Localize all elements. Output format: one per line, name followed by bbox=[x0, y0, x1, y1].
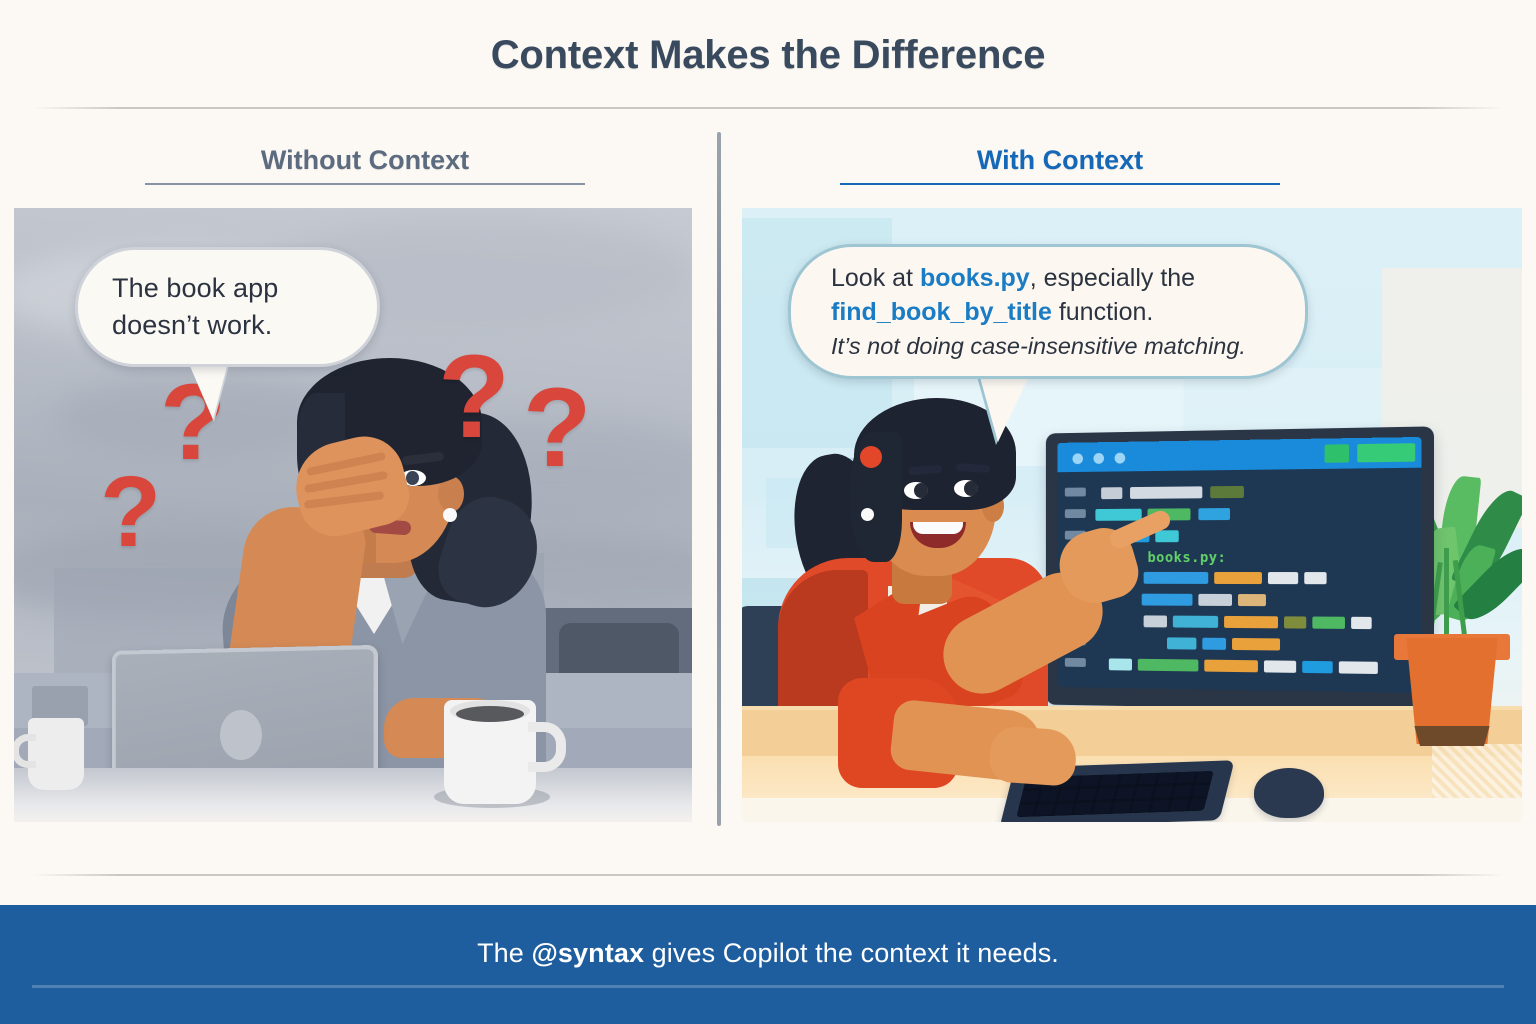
code-token bbox=[1224, 616, 1278, 628]
code-token bbox=[1204, 660, 1258, 673]
person-pupil bbox=[406, 471, 419, 485]
plant-stem bbox=[1444, 548, 1449, 646]
editor-line-number bbox=[1065, 488, 1086, 497]
line1-text-after: , especially the bbox=[1030, 264, 1195, 292]
code-ref-books-py: books.py bbox=[920, 264, 1030, 292]
footer-accent-line bbox=[32, 985, 1504, 988]
code-token bbox=[1198, 594, 1232, 606]
line2-text-after: function. bbox=[1052, 298, 1153, 326]
code-token bbox=[1202, 638, 1226, 650]
code-token bbox=[1138, 659, 1199, 672]
code-ref-find-book-by-title: find_book_by_title bbox=[831, 298, 1052, 326]
hair-tie bbox=[860, 446, 882, 468]
code-token bbox=[1144, 572, 1209, 584]
code-token bbox=[1351, 617, 1372, 629]
laptop-logo bbox=[220, 710, 262, 760]
speech-bubble-tail bbox=[978, 370, 1032, 442]
code-token bbox=[1167, 637, 1196, 649]
editor-line-number bbox=[1065, 658, 1086, 667]
plant-pot-base bbox=[1412, 726, 1492, 746]
person-earring bbox=[443, 508, 457, 522]
code-token bbox=[1304, 572, 1326, 584]
question-mark-icon: ? bbox=[523, 372, 591, 484]
speech-bubble-body: Look at books.py, especially the find_bo… bbox=[788, 244, 1308, 379]
code-token bbox=[1198, 508, 1230, 520]
speech-bubble-line-1: Look at books.py, especially the bbox=[831, 261, 1265, 296]
person-pupil bbox=[914, 483, 928, 498]
code-token bbox=[1284, 616, 1306, 628]
footer-text-before: The bbox=[477, 938, 531, 968]
code-token bbox=[1095, 509, 1141, 521]
footer-highlight-syntax: @syntax bbox=[532, 938, 645, 968]
code-token bbox=[1142, 594, 1193, 606]
code-token bbox=[1130, 486, 1202, 499]
code-token bbox=[1144, 615, 1167, 627]
footer-text-after: gives Copilot the context it needs. bbox=[644, 938, 1059, 968]
header-divider bbox=[32, 107, 1504, 109]
code-token bbox=[1173, 616, 1218, 628]
window-dot-icon[interactable] bbox=[1072, 453, 1082, 464]
question-mark-icon: ? bbox=[100, 462, 161, 562]
code-token bbox=[1339, 661, 1378, 674]
speech-bubble-line-2: doesn’t work. bbox=[112, 307, 343, 344]
coffee-mug-small bbox=[28, 718, 84, 790]
code-token bbox=[1214, 572, 1262, 584]
speech-bubble-without-context: The book app doesn’t work. bbox=[75, 247, 380, 367]
column-divider bbox=[717, 132, 721, 826]
page-title: Context Makes the Difference bbox=[0, 33, 1536, 78]
code-token bbox=[1101, 487, 1122, 499]
infographic-root: Context Makes the Difference Without Con… bbox=[0, 0, 1536, 1024]
footer-divider bbox=[32, 874, 1504, 876]
footer-banner: The @syntax gives Copilot the context it… bbox=[0, 905, 1536, 1024]
speech-bubble-body: The book app doesn’t work. bbox=[75, 247, 380, 367]
code-token bbox=[1210, 486, 1244, 498]
code-token bbox=[1312, 617, 1345, 629]
editor-filename-label: books.py: bbox=[1148, 550, 1227, 566]
question-mark-icon: ? bbox=[438, 338, 510, 456]
code-token bbox=[1238, 594, 1266, 606]
desk-edge bbox=[14, 768, 692, 822]
speech-bubble-line-2: find_book_by_title function. bbox=[831, 295, 1265, 330]
status-badge bbox=[1357, 443, 1415, 462]
speech-bubble-with-context: Look at books.py, especially the find_bo… bbox=[788, 244, 1308, 379]
code-token bbox=[1264, 660, 1296, 672]
person-earring bbox=[861, 508, 874, 521]
person-typing-hand bbox=[988, 725, 1078, 787]
code-token bbox=[1268, 572, 1298, 584]
column-heading-without-context: Without Context bbox=[145, 145, 585, 185]
footer-message: The @syntax gives Copilot the context it… bbox=[0, 938, 1536, 969]
code-token bbox=[1109, 658, 1132, 670]
column-heading-with-context: With Context bbox=[840, 145, 1280, 185]
status-badge bbox=[1325, 444, 1350, 463]
code-token bbox=[1155, 530, 1178, 542]
code-token bbox=[1232, 638, 1280, 651]
speech-bubble-tail bbox=[187, 359, 229, 419]
speech-bubble-line-1: The book app bbox=[112, 270, 343, 307]
coffee-mug bbox=[444, 700, 536, 804]
mouse[interactable] bbox=[1254, 768, 1324, 818]
code-token bbox=[1302, 661, 1332, 674]
person-pupil bbox=[964, 481, 978, 496]
editor-line-number bbox=[1065, 509, 1086, 518]
speech-bubble-line-3: It’s not doing case-insensitive matching… bbox=[831, 330, 1265, 362]
line1-text-before: Look at bbox=[831, 264, 920, 292]
